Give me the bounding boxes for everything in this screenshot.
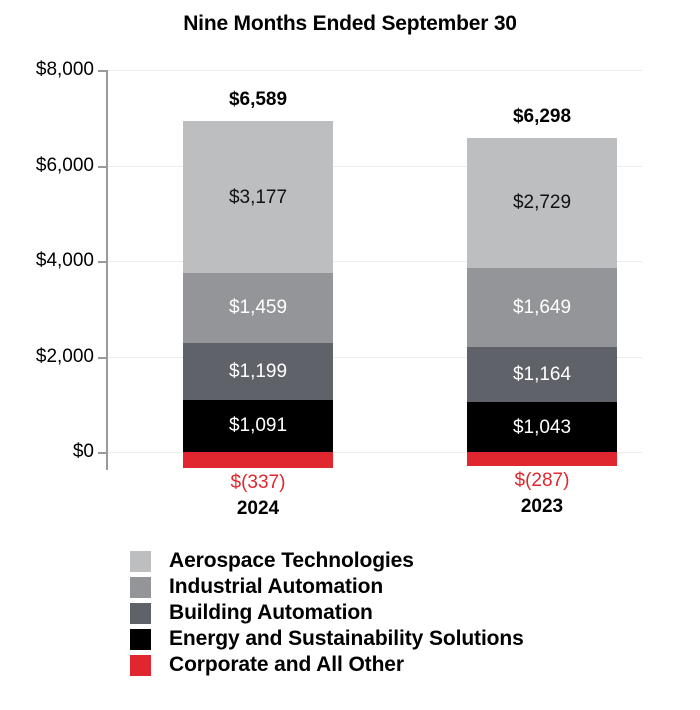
y-axis-tick-label: $0 xyxy=(6,441,94,463)
y-axis-tick-label: $8,000 xyxy=(6,59,94,81)
bar-segment[interactable]: $3,177 xyxy=(183,121,333,273)
legend-color-swatch xyxy=(130,551,151,572)
legend-item[interactable]: Industrial Automation xyxy=(130,574,524,600)
bar-segment[interactable]: $1,164 xyxy=(467,347,617,403)
legend-item[interactable]: Corporate and All Other xyxy=(130,652,524,678)
legend-item-label: Energy and Sustainability Solutions xyxy=(169,627,524,651)
bar-total-label: $6,589 xyxy=(183,89,333,111)
y-tick-8000 xyxy=(98,70,108,72)
bar-total-label: $6,298 xyxy=(467,106,617,128)
legend-item-label: Aerospace Technologies xyxy=(169,549,414,573)
bar-segment-value-label: $1,164 xyxy=(513,365,571,384)
bar-negative-value-label: $(287) xyxy=(467,470,617,492)
legend-color-swatch xyxy=(130,655,151,676)
bar-segment-value-label: $1,091 xyxy=(229,416,287,435)
bar-segment[interactable]: $2,729 xyxy=(467,138,617,268)
legend-item[interactable]: Aerospace Technologies xyxy=(130,548,524,574)
y-axis-tick-label: $4,000 xyxy=(6,250,94,272)
chart-legend: Aerospace TechnologiesIndustrial Automat… xyxy=(130,548,524,678)
bar-segment-value-label: $2,729 xyxy=(513,193,571,212)
x-axis-category-label: 2023 xyxy=(467,496,617,518)
bar-segment-negative[interactable] xyxy=(467,452,617,466)
legend-item[interactable]: Energy and Sustainability Solutions xyxy=(130,626,524,652)
legend-color-swatch xyxy=(130,603,151,624)
legend-item-label: Building Automation xyxy=(169,601,373,625)
bar-segment-value-label: $1,199 xyxy=(229,362,287,381)
bar-segment-value-label: $1,649 xyxy=(513,298,571,317)
bar-segment-negative[interactable] xyxy=(183,452,333,468)
y-axis-labels: $8,000$6,000$4,000$2,000$0 xyxy=(0,0,94,710)
y-tick-6000 xyxy=(98,166,108,168)
bar-segment[interactable]: $1,649 xyxy=(467,268,617,347)
y-axis-tick-label: $2,000 xyxy=(6,346,94,368)
bar-segment[interactable]: $1,091 xyxy=(183,400,333,452)
bar-negative-value-label: $(337) xyxy=(183,472,333,494)
bar-segment-value-label: $1,043 xyxy=(513,418,571,437)
y-tick-4000 xyxy=(98,261,108,263)
bar-segment[interactable]: $1,043 xyxy=(467,402,617,452)
bar-segment-value-label: $3,177 xyxy=(229,188,287,207)
legend-color-swatch xyxy=(130,577,151,598)
y-tick-2000 xyxy=(98,357,108,359)
legend-color-swatch xyxy=(130,629,151,650)
legend-item[interactable]: Building Automation xyxy=(130,600,524,626)
y-tick-0 xyxy=(98,452,108,454)
bar-segment-value-label: $1,459 xyxy=(229,298,287,317)
stacked-bar-chart: Nine Months Ended September 30 $8,000$6,… xyxy=(0,0,700,710)
legend-item-label: Industrial Automation xyxy=(169,575,383,599)
bar-segment[interactable]: $1,459 xyxy=(183,273,333,343)
y-axis-tick-label: $6,000 xyxy=(6,155,94,177)
y-axis-line xyxy=(106,70,108,470)
x-axis-category-label: 2024 xyxy=(183,498,333,520)
legend-item-label: Corporate and All Other xyxy=(169,653,404,677)
bar-segment[interactable]: $1,199 xyxy=(183,343,333,400)
